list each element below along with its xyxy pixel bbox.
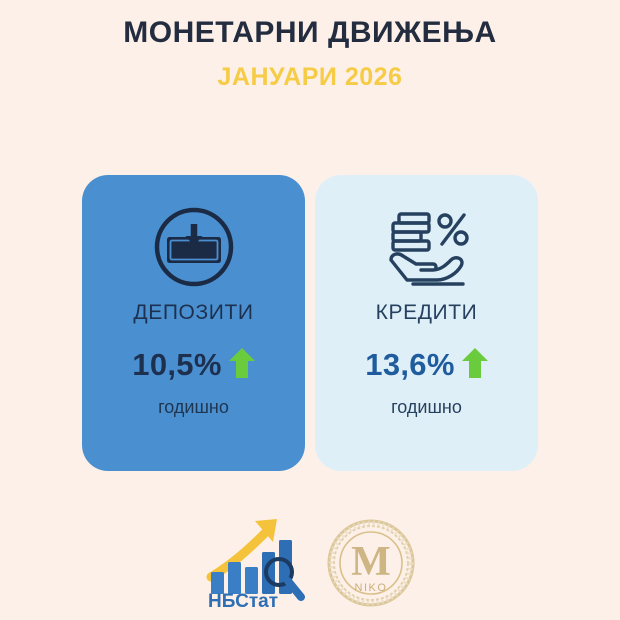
arrow-up-icon [229,348,255,383]
seal-text: NIKO [355,582,388,594]
metric-value-row: 13,6% [365,347,487,383]
page-subtitle-period: ЈАНУАРИ 2026 [0,63,620,92]
metric-card-credits: КРЕДИТИ 13,6% годишно [315,175,538,471]
nbstat-logo-text: НБСтат [208,591,278,610]
deposit-banknote-icon [151,201,237,293]
arrow-up-icon [462,348,488,383]
metric-cards-container: ДЕПОЗИТИ 10,5% годишно [82,175,538,471]
bar-chart-arrow-magnifier-icon: НБСтат [203,515,315,610]
coins-in-hand-percent-icon [381,201,473,293]
metric-card-deposits: ДЕПОЗИТИ 10,5% годишно [82,175,305,471]
seal-monogram: M [351,539,391,585]
metric-value: 13,6% [365,347,454,383]
metric-period: годишно [391,397,462,418]
gold-seal-icon: M NIKO [325,517,417,609]
metric-card-label: КРЕДИТИ [376,301,478,325]
infographic-page: МОНЕТАРНИ ДВИЖЕЊА ЈАНУАРИ 2026 ДЕПОЗИТИ … [0,0,620,620]
metric-period: годишно [158,397,229,418]
footer-logos: НБСтат M NIKO [0,505,620,620]
metric-card-label: ДЕПОЗИТИ [133,301,253,325]
header: МОНЕТАРНИ ДВИЖЕЊА ЈАНУАРИ 2026 [0,0,620,91]
page-title: МОНЕТАРНИ ДВИЖЕЊА [0,16,620,51]
metric-value: 10,5% [132,347,221,383]
metric-value-row: 10,5% [132,347,254,383]
